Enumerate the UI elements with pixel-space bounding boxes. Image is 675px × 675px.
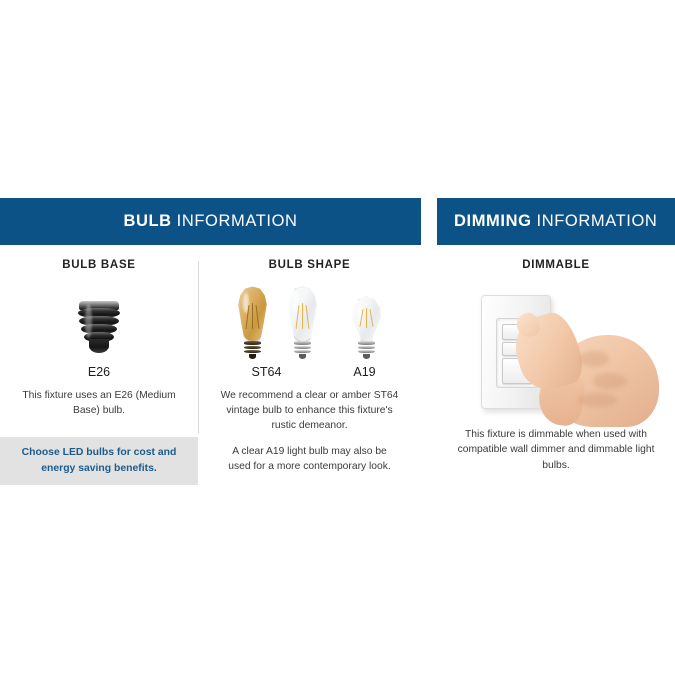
dimming-header-strong: DIMMING — [454, 212, 532, 231]
bulb-information-panel: BULB INFORMATION BULB BASE — [0, 198, 421, 475]
bulb-base-description: This fixture uses an E26 (Medium Base) b… — [0, 389, 198, 419]
bulb-shape-caption-a19: A19 — [322, 365, 408, 379]
dimming-information-body: DIMMABLE — [437, 245, 675, 473]
dimming-header-light: INFORMATION — [537, 212, 658, 231]
bulb-information-body: BULB BASE E26 — [0, 245, 421, 475]
bulb-shape-description-1: We recommend a clear or amber ST64 vinta… — [198, 389, 421, 434]
bulb-header-light: INFORMATION — [177, 212, 298, 231]
bulb-base-art-row — [0, 277, 198, 359]
dimming-information-panel: DIMMING INFORMATION DIMMABLE — [437, 198, 675, 473]
a19-clear-bulb-icon — [350, 296, 384, 359]
bulb-base-caption-row: E26 — [0, 365, 198, 379]
hand-pressing-switch — [515, 315, 665, 427]
bulb-base-column: BULB BASE E26 — [0, 259, 198, 419]
bulb-information-header: BULB INFORMATION — [0, 198, 421, 245]
bulb-shape-description-2: A clear A19 light bulb may also be used … — [198, 445, 421, 475]
bulb-shape-caption-row: ST64 A19 — [198, 365, 421, 379]
dimming-information-header: DIMMING INFORMATION — [437, 198, 675, 245]
bulb-shape-caption-st64: ST64 — [212, 365, 322, 379]
bulb-shape-art-row — [198, 277, 421, 359]
spec-panels-container: BULB INFORMATION BULB BASE — [0, 198, 675, 488]
e26-socket-icon — [76, 301, 122, 357]
led-savings-callout: Choose LED bulbs for cost and energy sav… — [0, 437, 198, 485]
dimming-description: This fixture is dimmable when used with … — [437, 427, 675, 473]
bulb-base-caption: E26 — [88, 365, 110, 379]
wall-dimmer-switch-icon — [437, 277, 675, 427]
bulb-shape-column: BULB SHAPE — [198, 259, 421, 475]
bulb-shape-title: BULB SHAPE — [198, 259, 421, 271]
bulb-header-strong: BULB — [123, 212, 171, 231]
st64-clear-bulb-icon — [286, 286, 320, 359]
bulb-base-title: BULB BASE — [0, 259, 198, 271]
st64-amber-bulb-icon — [236, 286, 270, 359]
dimmable-title: DIMMABLE — [437, 259, 675, 271]
